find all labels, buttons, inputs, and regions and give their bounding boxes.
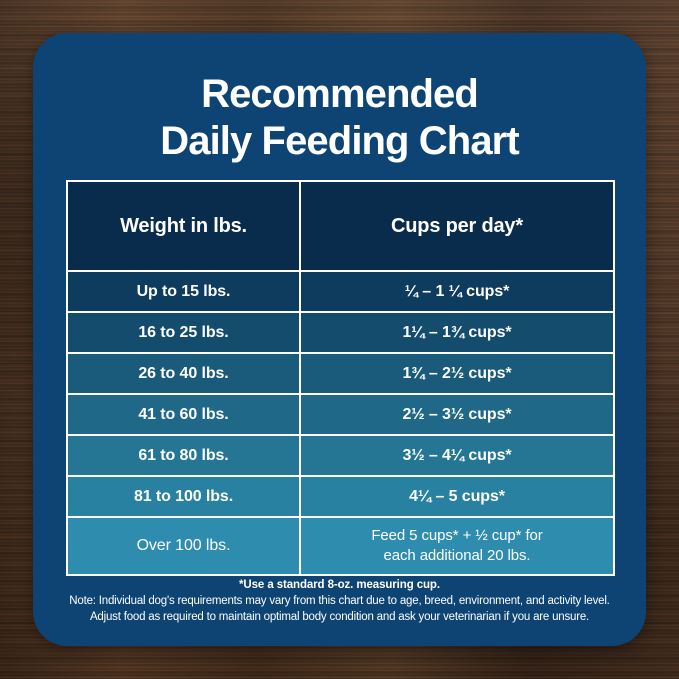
cell-weight: 61 to 80 lbs. — [67, 435, 300, 476]
table-row: Over 100 lbs. Feed 5 cups* + ½ cup* for … — [67, 517, 614, 575]
cell-cups: 1¾ – 2½ cups* — [300, 353, 614, 394]
cell-weight: Up to 15 lbs. — [67, 271, 300, 312]
table-row: 61 to 80 lbs. 3½ – 4¼ cups* — [67, 435, 614, 476]
footnotes: *Use a standard 8-oz. measuring cup. Not… — [51, 577, 628, 625]
cell-cups: 2½ – 3½ cups* — [300, 394, 614, 435]
table-header: Weight in lbs. Cups per day* — [67, 181, 614, 271]
cell-cups: 1¼ – 1¾ cups* — [300, 312, 614, 353]
cell-weight: 16 to 25 lbs. — [67, 312, 300, 353]
table-row: 41 to 60 lbs. 2½ – 3½ cups* — [67, 394, 614, 435]
cell-weight: 81 to 100 lbs. — [67, 476, 300, 517]
table-row: 81 to 100 lbs. 4¼ – 5 cups* — [67, 476, 614, 517]
table-body: Up to 15 lbs. ¼ – 1 ¼ cups* 16 to 25 lbs… — [67, 271, 614, 575]
footnote-measuring-cup: *Use a standard 8-oz. measuring cup. — [51, 577, 628, 593]
cell-cups: ¼ – 1 ¼ cups* — [300, 271, 614, 312]
cell-cups: 3½ – 4¼ cups* — [300, 435, 614, 476]
title-line-1: Recommended — [33, 71, 646, 118]
footnote-note-line-1: Note: Individual dog's requirements may … — [51, 593, 628, 609]
column-header-cups: Cups per day* — [300, 181, 614, 271]
cell-cups-line-2: each additional 20 lbs. — [384, 547, 531, 564]
title-line-2: Daily Feeding Chart — [33, 118, 646, 165]
table-row: 26 to 40 lbs. 1¾ – 2½ cups* — [67, 353, 614, 394]
feeding-chart-card: Recommended Daily Feeding Chart Weight i… — [33, 33, 646, 646]
cell-weight: 26 to 40 lbs. — [67, 353, 300, 394]
cell-cups: 4¼ – 5 cups* — [300, 476, 614, 517]
cell-cups-line-1: Feed 5 cups* + ½ cup* for — [371, 527, 542, 544]
page-title: Recommended Daily Feeding Chart — [33, 71, 646, 165]
footnote-note-line-2: Adjust food as required to maintain opti… — [51, 609, 628, 625]
cell-weight: Over 100 lbs. — [67, 517, 300, 575]
table-row: 16 to 25 lbs. 1¼ – 1¾ cups* — [67, 312, 614, 353]
cell-weight: 41 to 60 lbs. — [67, 394, 300, 435]
column-header-weight: Weight in lbs. — [67, 181, 300, 271]
cell-cups: Feed 5 cups* + ½ cup* for each additiona… — [300, 517, 614, 575]
table-header-row: Weight in lbs. Cups per day* — [67, 181, 614, 271]
feeding-chart-table: Weight in lbs. Cups per day* Up to 15 lb… — [66, 180, 615, 576]
table-row: Up to 15 lbs. ¼ – 1 ¼ cups* — [67, 271, 614, 312]
